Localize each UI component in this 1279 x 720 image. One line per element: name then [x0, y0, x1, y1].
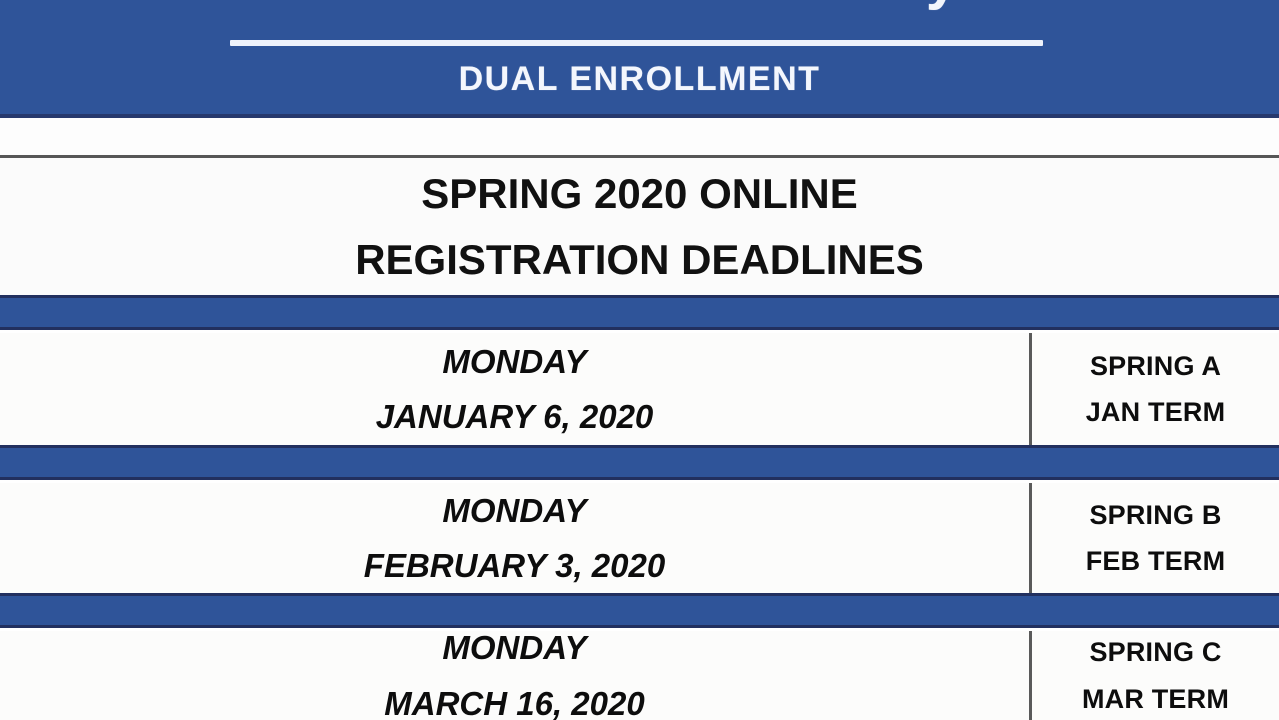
- term-code: SPRING B: [1089, 492, 1221, 538]
- deadline-date: MARCH 16, 2020: [384, 676, 644, 720]
- term-name: MAR TERM: [1082, 676, 1229, 720]
- masthead-banner: Aeronautical University DUAL ENROLLMENT: [0, 0, 1279, 118]
- row-divider-band: [0, 445, 1279, 480]
- table-row: MONDAY FEBRUARY 3, 2020 SPRING B FEB TER…: [0, 483, 1279, 593]
- table-row: MONDAY MARCH 16, 2020 SPRING C MAR TERM: [0, 631, 1279, 720]
- term-cell: SPRING A JAN TERM: [1032, 333, 1279, 445]
- registration-deadlines-flyer: Aeronautical University DUAL ENROLLMENT …: [0, 0, 1279, 720]
- deadline-weekday: MONDAY: [442, 334, 586, 389]
- row-divider-band: [0, 593, 1279, 628]
- organization-name: Aeronautical University: [0, 0, 1279, 8]
- term-name: JAN TERM: [1086, 389, 1226, 435]
- header-gap-strip: [0, 118, 1279, 155]
- term-code: SPRING A: [1090, 343, 1221, 389]
- page-title: SPRING 2020 ONLINE REGISTRATION DEADLINE…: [0, 158, 1279, 295]
- masthead-divider-rule: [230, 40, 1043, 46]
- deadline-date-cell: MONDAY MARCH 16, 2020: [0, 631, 1032, 720]
- deadline-weekday: MONDAY: [442, 483, 586, 538]
- masthead-subtitle: DUAL ENROLLMENT: [0, 60, 1279, 99]
- page-title-line-1: SPRING 2020 ONLINE: [421, 161, 857, 226]
- row-divider-band: [0, 295, 1279, 330]
- deadline-weekday: MONDAY: [442, 620, 586, 675]
- deadline-date: JANUARY 6, 2020: [376, 389, 654, 444]
- term-cell: SPRING B FEB TERM: [1032, 483, 1279, 593]
- deadline-date: FEBRUARY 3, 2020: [364, 538, 665, 593]
- term-cell: SPRING C MAR TERM: [1032, 631, 1279, 720]
- deadline-date-cell: MONDAY FEBRUARY 3, 2020: [0, 483, 1032, 593]
- term-name: FEB TERM: [1086, 538, 1226, 584]
- page-title-line-2: REGISTRATION DEADLINES: [355, 227, 924, 292]
- term-code: SPRING C: [1089, 629, 1221, 675]
- deadline-date-cell: MONDAY JANUARY 6, 2020: [0, 333, 1032, 445]
- table-row: MONDAY JANUARY 6, 2020 SPRING A JAN TERM: [0, 333, 1279, 445]
